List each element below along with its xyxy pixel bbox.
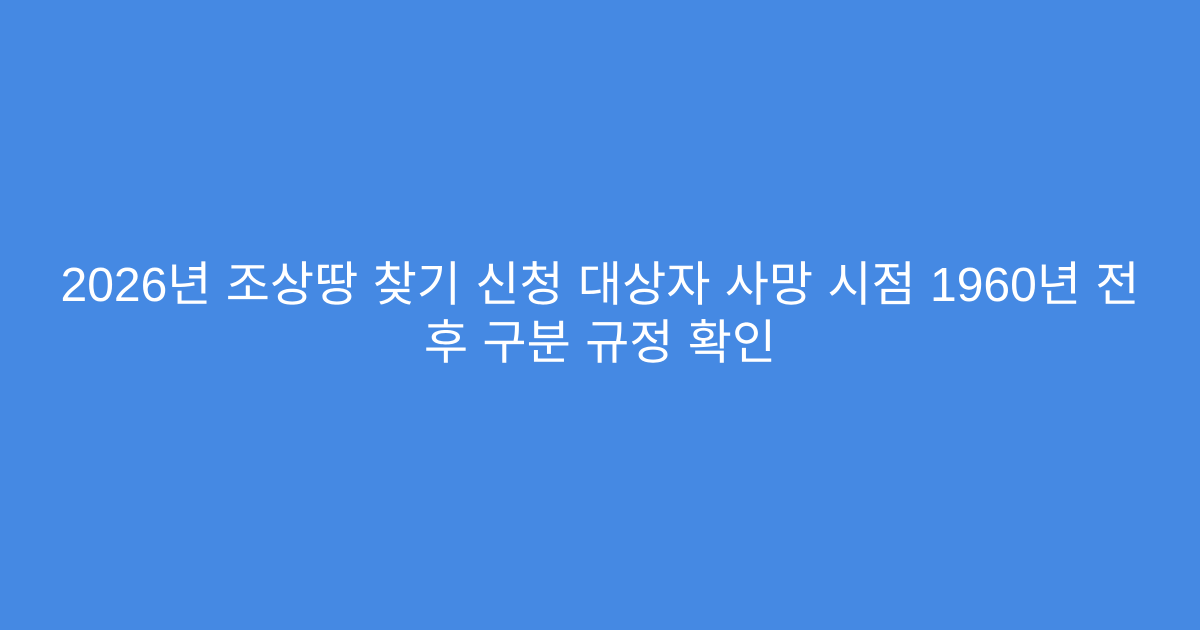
og-banner-card: 2026년 조상땅 찾기 신청 대상자 사망 시점 1960년 전후 구분 규정… (0, 0, 1200, 630)
page-title: 2026년 조상땅 찾기 신청 대상자 사망 시점 1960년 전후 구분 규정… (56, 257, 1144, 373)
